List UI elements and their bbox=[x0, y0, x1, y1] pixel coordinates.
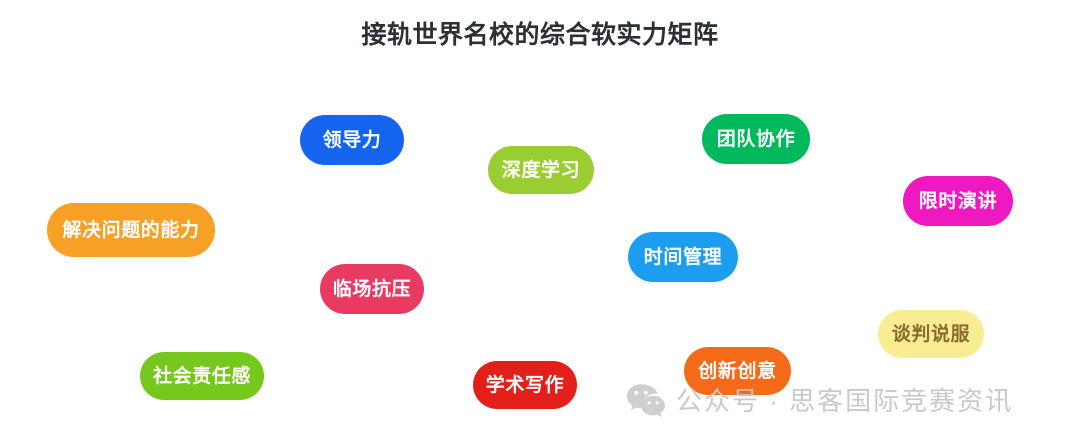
skill-tag[interactable]: 领导力 bbox=[300, 115, 404, 165]
soft-skills-matrix-canvas: 接轨世界名校的综合软实力矩阵 领导力深度学习团队协作限时演讲解决问题的能力时间管… bbox=[0, 0, 1080, 443]
skill-tag[interactable]: 时间管理 bbox=[628, 232, 738, 282]
skill-tag[interactable]: 解决问题的能力 bbox=[47, 203, 215, 257]
skill-tag[interactable]: 临场抗压 bbox=[320, 264, 424, 314]
page-title: 接轨世界名校的综合软实力矩阵 bbox=[0, 18, 1080, 52]
skill-tag[interactable]: 限时演讲 bbox=[903, 176, 1013, 226]
skill-tag[interactable]: 社会责任感 bbox=[140, 352, 264, 400]
skill-tag[interactable]: 谈判说服 bbox=[878, 310, 984, 358]
skill-tag[interactable]: 学术写作 bbox=[473, 361, 577, 409]
skill-tag[interactable]: 团队协作 bbox=[702, 114, 810, 164]
skill-tag[interactable]: 深度学习 bbox=[488, 146, 594, 194]
wechat-icon bbox=[626, 383, 666, 417]
watermark-text: 公众号 · 思客国际竞赛资讯 bbox=[676, 381, 1013, 418]
watermark: 公众号 · 思客国际竞赛资讯 bbox=[626, 381, 1013, 418]
